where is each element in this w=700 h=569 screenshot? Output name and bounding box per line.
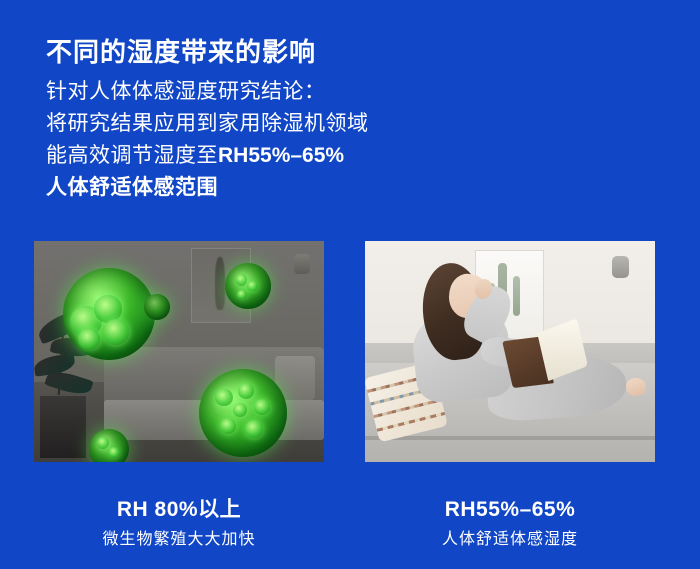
body-line-1: 针对人体体感湿度研究结论： <box>46 76 369 108</box>
photo-comfort-humidity <box>365 241 655 462</box>
photo-high-humidity <box>34 241 324 462</box>
foot <box>626 378 646 396</box>
body-line-4: 人体舒适体感范围 <box>46 172 369 204</box>
page-title: 不同的湿度带来的影响 <box>46 35 316 69</box>
photo-row <box>0 241 700 463</box>
dark-room-illustration <box>34 241 324 462</box>
wall-speaker-icon <box>294 254 310 274</box>
caption-title: RH55%–65% <box>365 496 655 524</box>
body-copy: 针对人体体感湿度研究结论： 将研究结果应用到家用除湿机领域 能高效调节湿度至RH… <box>46 76 369 204</box>
body-line-3: 能高效调节湿度至RH55%–65% <box>46 140 369 172</box>
slide-root: 不同的湿度带来的影响 针对人体体感湿度研究结论： 将研究结果应用到家用除湿机领域… <box>0 0 700 569</box>
microbe-cluster-icon <box>89 429 129 462</box>
bright-room-illustration <box>365 241 655 462</box>
caption-subtitle: 微生物繁殖大大加快 <box>34 527 324 553</box>
microbe-cluster-icon <box>199 369 287 457</box>
body-line-2: 将研究结果应用到家用除湿机领域 <box>46 108 369 140</box>
microbe-cluster-icon <box>63 268 155 360</box>
caption-subtitle: 人体舒适体感湿度 <box>365 527 655 553</box>
body-line-3-prefix: 能高效调节湿度至 <box>46 144 218 167</box>
caption-high-humidity: RH 80%以上 微生物繁殖大大加快 <box>34 496 324 553</box>
body-line-3-highlight: RH55%–65% <box>218 144 344 167</box>
caption-title: RH 80%以上 <box>34 496 324 524</box>
caption-comfort-humidity: RH55%–65% 人体舒适体感湿度 <box>365 496 655 553</box>
plant-pot <box>40 396 86 458</box>
